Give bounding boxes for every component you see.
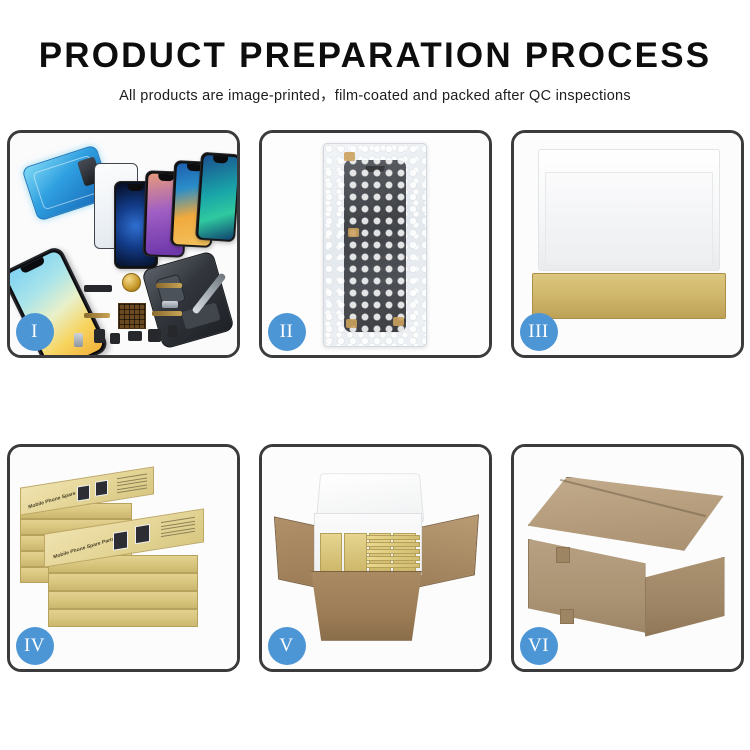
box-label-front: Mobile Phone Spare Parts: [52, 536, 114, 560]
flex-cable-1: [156, 283, 182, 288]
step-badge-4: IV: [16, 627, 54, 665]
part-bar-1: [84, 285, 112, 292]
process-panel-4[interactable]: Mobile Phone Spare Parts Mobile: [7, 444, 240, 672]
process-panel-1[interactable]: I: [7, 130, 240, 358]
bubble-wrap-bag-icon: [323, 143, 427, 347]
foam-lid-icon: [538, 149, 720, 271]
carton-body-icon: [304, 571, 430, 641]
box-text-lines-front: [161, 517, 195, 540]
kraft-box-fr-1: [48, 609, 198, 627]
bubble-texture: [324, 144, 426, 346]
part-block-4: [148, 329, 161, 342]
infographic-page: PRODUCT PREPARATION PROCESS All products…: [0, 0, 750, 750]
part-metal-2: [74, 333, 83, 347]
box-phone-img-2: [95, 479, 108, 496]
flex-cable-3: [84, 313, 110, 318]
carton-tape-lower: [560, 609, 574, 624]
part-block-1: [94, 329, 105, 343]
page-subtitle: All products are image-printed，film-coat…: [0, 84, 750, 105]
carton-tape-upper: [556, 547, 570, 563]
part-block-3: [128, 331, 142, 341]
tape-mark-bl: [346, 319, 357, 328]
page-title: PRODUCT PREPARATION PROCESS: [0, 38, 750, 75]
kraft-box-fr-3: [48, 573, 198, 591]
tape-mark-top: [344, 152, 355, 161]
chip-grid-icon: [118, 303, 146, 329]
box-phone-img-1: [77, 484, 90, 501]
carton-side-face: [645, 557, 725, 637]
phone-teal-green: [194, 151, 236, 242]
kraft-box-fr-2: [48, 591, 198, 609]
yellow-boxes-stack: [366, 535, 420, 571]
step-badge-6: VI: [520, 627, 558, 665]
box-text-lines-top: [117, 473, 147, 495]
coil-component-icon: [122, 273, 141, 292]
step-badge-2: II: [268, 313, 306, 351]
process-panel-3[interactable]: III: [511, 130, 744, 358]
part-block-2: [110, 333, 120, 344]
step-badge-3: III: [520, 313, 558, 351]
part-block-5: [168, 325, 177, 337]
step-badge-5: V: [268, 627, 306, 665]
tape-mark-mid: [348, 228, 359, 237]
kraft-box-tray-icon: [532, 273, 726, 319]
process-panel-6[interactable]: VI: [511, 444, 744, 672]
header: PRODUCT PREPARATION PROCESS All products…: [0, 0, 750, 105]
carton-flap-right: [416, 514, 478, 588]
process-grid: I II: [7, 130, 743, 672]
box-phone-img-3: [113, 530, 128, 550]
process-panel-5[interactable]: V: [259, 444, 492, 672]
flex-cable-2: [152, 311, 182, 316]
part-metal-1: [162, 301, 178, 308]
tape-mark-br: [393, 317, 404, 326]
process-panel-2[interactable]: II: [259, 130, 492, 358]
carton-front-face: [528, 539, 646, 633]
box-phone-img-4: [135, 524, 150, 544]
step-badge-1: I: [16, 313, 54, 351]
